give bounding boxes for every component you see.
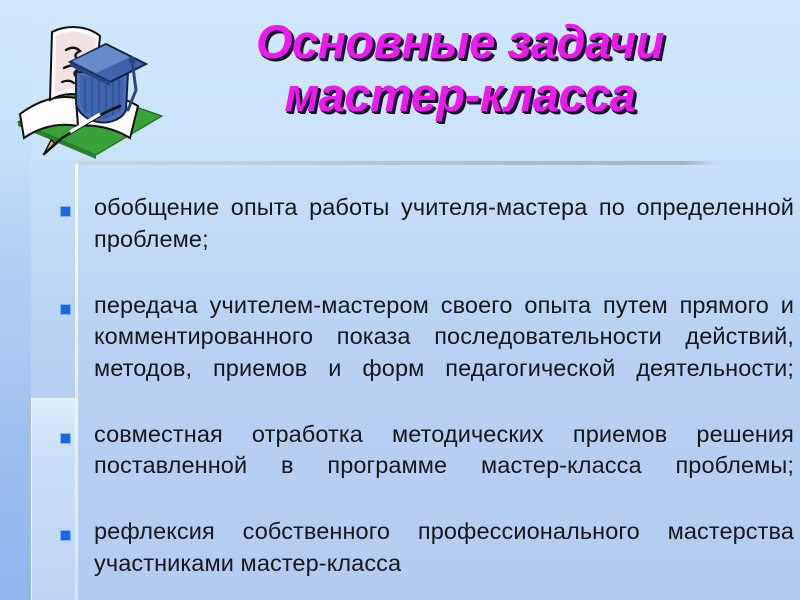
square-bullet-icon [61, 434, 70, 443]
presentation-slide: Основные задачи мастер-класса обобщение … [0, 0, 800, 600]
list-item-text: обобщение опыта работы учителя-мастера п… [94, 192, 794, 287]
bullet-list: обобщение опыта работы учителя-мастера п… [52, 192, 792, 582]
list-item[interactable]: передача учителем-мастером своего опыта … [52, 290, 792, 416]
list-item-text: совместная отработка методических приемо… [94, 419, 794, 514]
graduation-cap-book-icon [10, 14, 170, 162]
slide-title: Основные задачи мастер-класса [150, 16, 770, 121]
list-item-text: рефлексия собственного профессионального… [94, 516, 794, 579]
list-item[interactable]: рефлексия собственного профессионального… [52, 516, 792, 579]
list-item-text: передача учителем-мастером своего опыта … [94, 290, 794, 416]
square-bullet-icon [61, 207, 70, 216]
title-divider-line [78, 161, 720, 165]
list-item[interactable]: обобщение опыта работы учителя-мастера п… [52, 192, 792, 287]
square-bullet-icon [61, 305, 70, 314]
square-bullet-icon [61, 531, 70, 540]
list-item[interactable]: совместная отработка методических приемо… [52, 419, 792, 514]
